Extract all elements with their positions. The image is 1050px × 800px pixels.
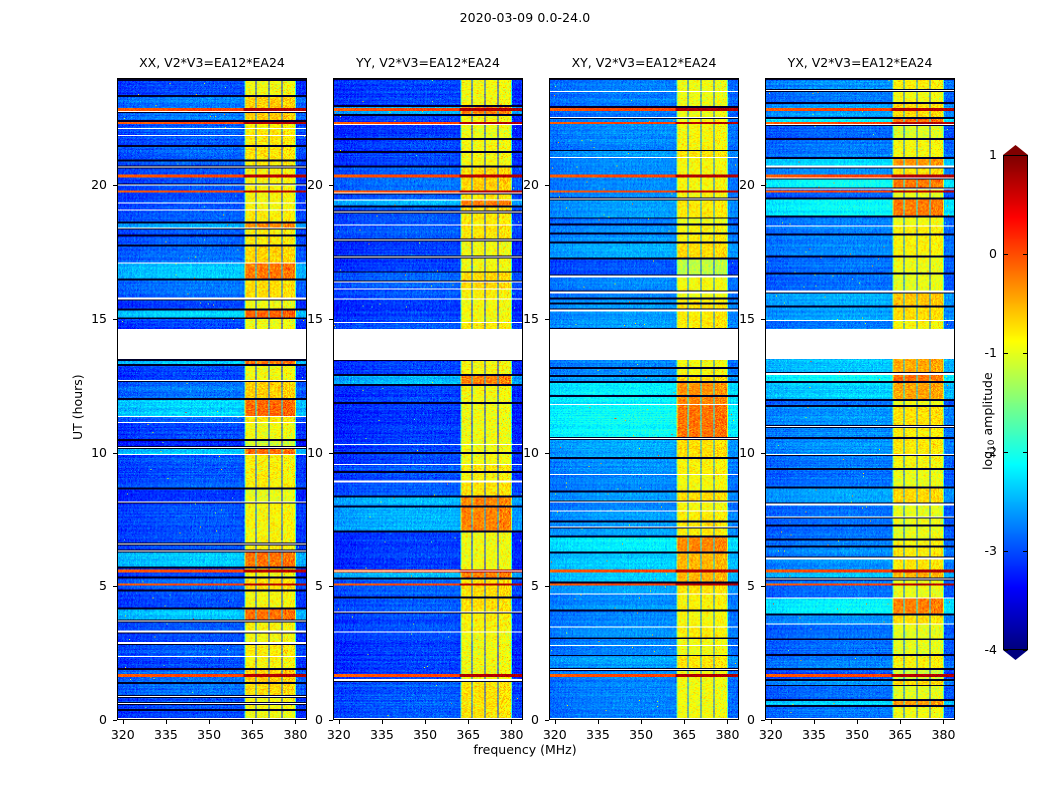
x-tick: [252, 720, 253, 724]
x-tick: [814, 720, 815, 724]
x-tick-label: 380: [491, 727, 531, 742]
y-tick-label: 20: [293, 177, 323, 192]
colorbar-tick-inner: [1004, 650, 1008, 651]
colorbar[interactable]: [1003, 155, 1028, 650]
y-tick-label: 0: [725, 712, 755, 727]
x-tick: [857, 720, 858, 724]
colorbar-tick-inner: [1004, 155, 1008, 156]
x-tick-label: 335: [362, 727, 402, 742]
y-tick: [545, 720, 549, 721]
panel-title-xy: XY, V2*V3=EA12*EA24: [549, 55, 739, 70]
x-tick: [900, 720, 901, 724]
x-tick-label: 380: [923, 727, 963, 742]
y-tick-label: 15: [293, 311, 323, 326]
heatmap-panel-yx[interactable]: [765, 78, 955, 720]
y-tick: [545, 586, 549, 587]
colorbar-tick-inner: [1004, 452, 1008, 453]
colorbar-tick: [1023, 551, 1027, 552]
x-tick: [468, 720, 469, 724]
heatmap-panel-xy[interactable]: [549, 78, 739, 720]
y-tick: [113, 586, 117, 587]
colorbar-label-prefix: log: [980, 451, 995, 470]
x-tick-label: 380: [707, 727, 747, 742]
colorbar-tick-label: 1: [971, 147, 997, 162]
y-axis-label: UT (hours): [70, 374, 85, 440]
heatmap-panel-yy[interactable]: [333, 78, 523, 720]
colorbar-tick-inner: [1004, 551, 1008, 552]
y-tick-label: 15: [77, 311, 107, 326]
colorbar-label: log10 amplitude: [980, 372, 997, 470]
heatmap-panel-xx[interactable]: [117, 78, 307, 720]
y-tick: [761, 586, 765, 587]
x-tick-label: 335: [146, 727, 186, 742]
y-tick-label: 10: [725, 445, 755, 460]
y-tick: [113, 319, 117, 320]
x-tick-label: 365: [232, 727, 272, 742]
colorbar-tick: [1023, 353, 1027, 354]
x-tick-label: 350: [621, 727, 661, 742]
x-tick-label: 320: [751, 727, 791, 742]
panel-title-yy: YY, V2*V3=EA12*EA24: [333, 55, 523, 70]
colorbar-tick: [1023, 452, 1027, 453]
y-tick: [113, 720, 117, 721]
y-tick: [761, 319, 765, 320]
x-tick: [425, 720, 426, 724]
colorbar-tick-inner: [1004, 353, 1008, 354]
colorbar-extend-top: [1003, 145, 1028, 155]
colorbar-tick: [1023, 155, 1027, 156]
y-tick: [113, 453, 117, 454]
y-tick: [545, 453, 549, 454]
colorbar-label-sub: 10: [987, 439, 997, 450]
x-tick: [684, 720, 685, 724]
x-tick: [771, 720, 772, 724]
x-tick: [555, 720, 556, 724]
spectrogram-figure: 2020-03-09 0.0-24.0 XX, V2*V3=EA12*EA24 …: [0, 0, 1050, 800]
colorbar-tick-inner: [1004, 254, 1008, 255]
y-tick-label: 20: [509, 177, 539, 192]
y-tick-label: 0: [293, 712, 323, 727]
y-tick: [329, 720, 333, 721]
x-tick: [641, 720, 642, 724]
y-tick-label: 20: [725, 177, 755, 192]
x-tick-label: 320: [535, 727, 575, 742]
x-axis-label: frequency (MHz): [0, 742, 1050, 757]
x-tick: [339, 720, 340, 724]
colorbar-label-suffix: amplitude: [980, 372, 995, 439]
x-tick-label: 335: [794, 727, 834, 742]
x-tick-label: 350: [405, 727, 445, 742]
figure-suptitle: 2020-03-09 0.0-24.0: [0, 10, 1050, 25]
y-tick-label: 5: [725, 578, 755, 593]
y-tick-label: 10: [509, 445, 539, 460]
colorbar-tick-label: -1: [971, 345, 997, 360]
x-tick-label: 335: [578, 727, 618, 742]
y-tick: [761, 453, 765, 454]
y-tick: [545, 319, 549, 320]
y-tick: [329, 586, 333, 587]
x-tick: [209, 720, 210, 724]
panel-title-yx: YX, V2*V3=EA12*EA24: [765, 55, 955, 70]
y-tick: [545, 185, 549, 186]
colorbar-tick-label: 0: [971, 246, 997, 261]
y-tick: [761, 720, 765, 721]
x-tick-label: 320: [103, 727, 143, 742]
x-tick-label: 320: [319, 727, 359, 742]
x-tick-label: 365: [880, 727, 920, 742]
y-tick-label: 5: [77, 578, 107, 593]
colorbar-extend-bottom: [1003, 650, 1028, 660]
x-tick-label: 380: [275, 727, 315, 742]
x-tick-label: 365: [664, 727, 704, 742]
y-tick-label: 15: [509, 311, 539, 326]
y-tick-label: 0: [509, 712, 539, 727]
x-tick: [943, 720, 944, 724]
colorbar-tick-label: -3: [971, 543, 997, 558]
y-tick-label: 5: [293, 578, 323, 593]
y-tick-label: 20: [77, 177, 107, 192]
y-tick-label: 5: [509, 578, 539, 593]
y-tick: [113, 185, 117, 186]
x-tick: [123, 720, 124, 724]
y-tick: [761, 185, 765, 186]
y-tick-label: 15: [725, 311, 755, 326]
y-tick: [329, 453, 333, 454]
x-tick-label: 350: [189, 727, 229, 742]
x-tick-label: 350: [837, 727, 877, 742]
x-tick: [166, 720, 167, 724]
x-tick-label: 365: [448, 727, 488, 742]
colorbar-tick: [1023, 650, 1027, 651]
panel-title-xx: XX, V2*V3=EA12*EA24: [117, 55, 307, 70]
y-tick-label: 0: [77, 712, 107, 727]
y-tick-label: 10: [293, 445, 323, 460]
y-tick: [329, 185, 333, 186]
x-tick: [382, 720, 383, 724]
colorbar-tick-label: -4: [971, 642, 997, 657]
y-tick: [329, 319, 333, 320]
y-tick-label: 10: [77, 445, 107, 460]
x-tick: [598, 720, 599, 724]
colorbar-tick: [1023, 254, 1027, 255]
